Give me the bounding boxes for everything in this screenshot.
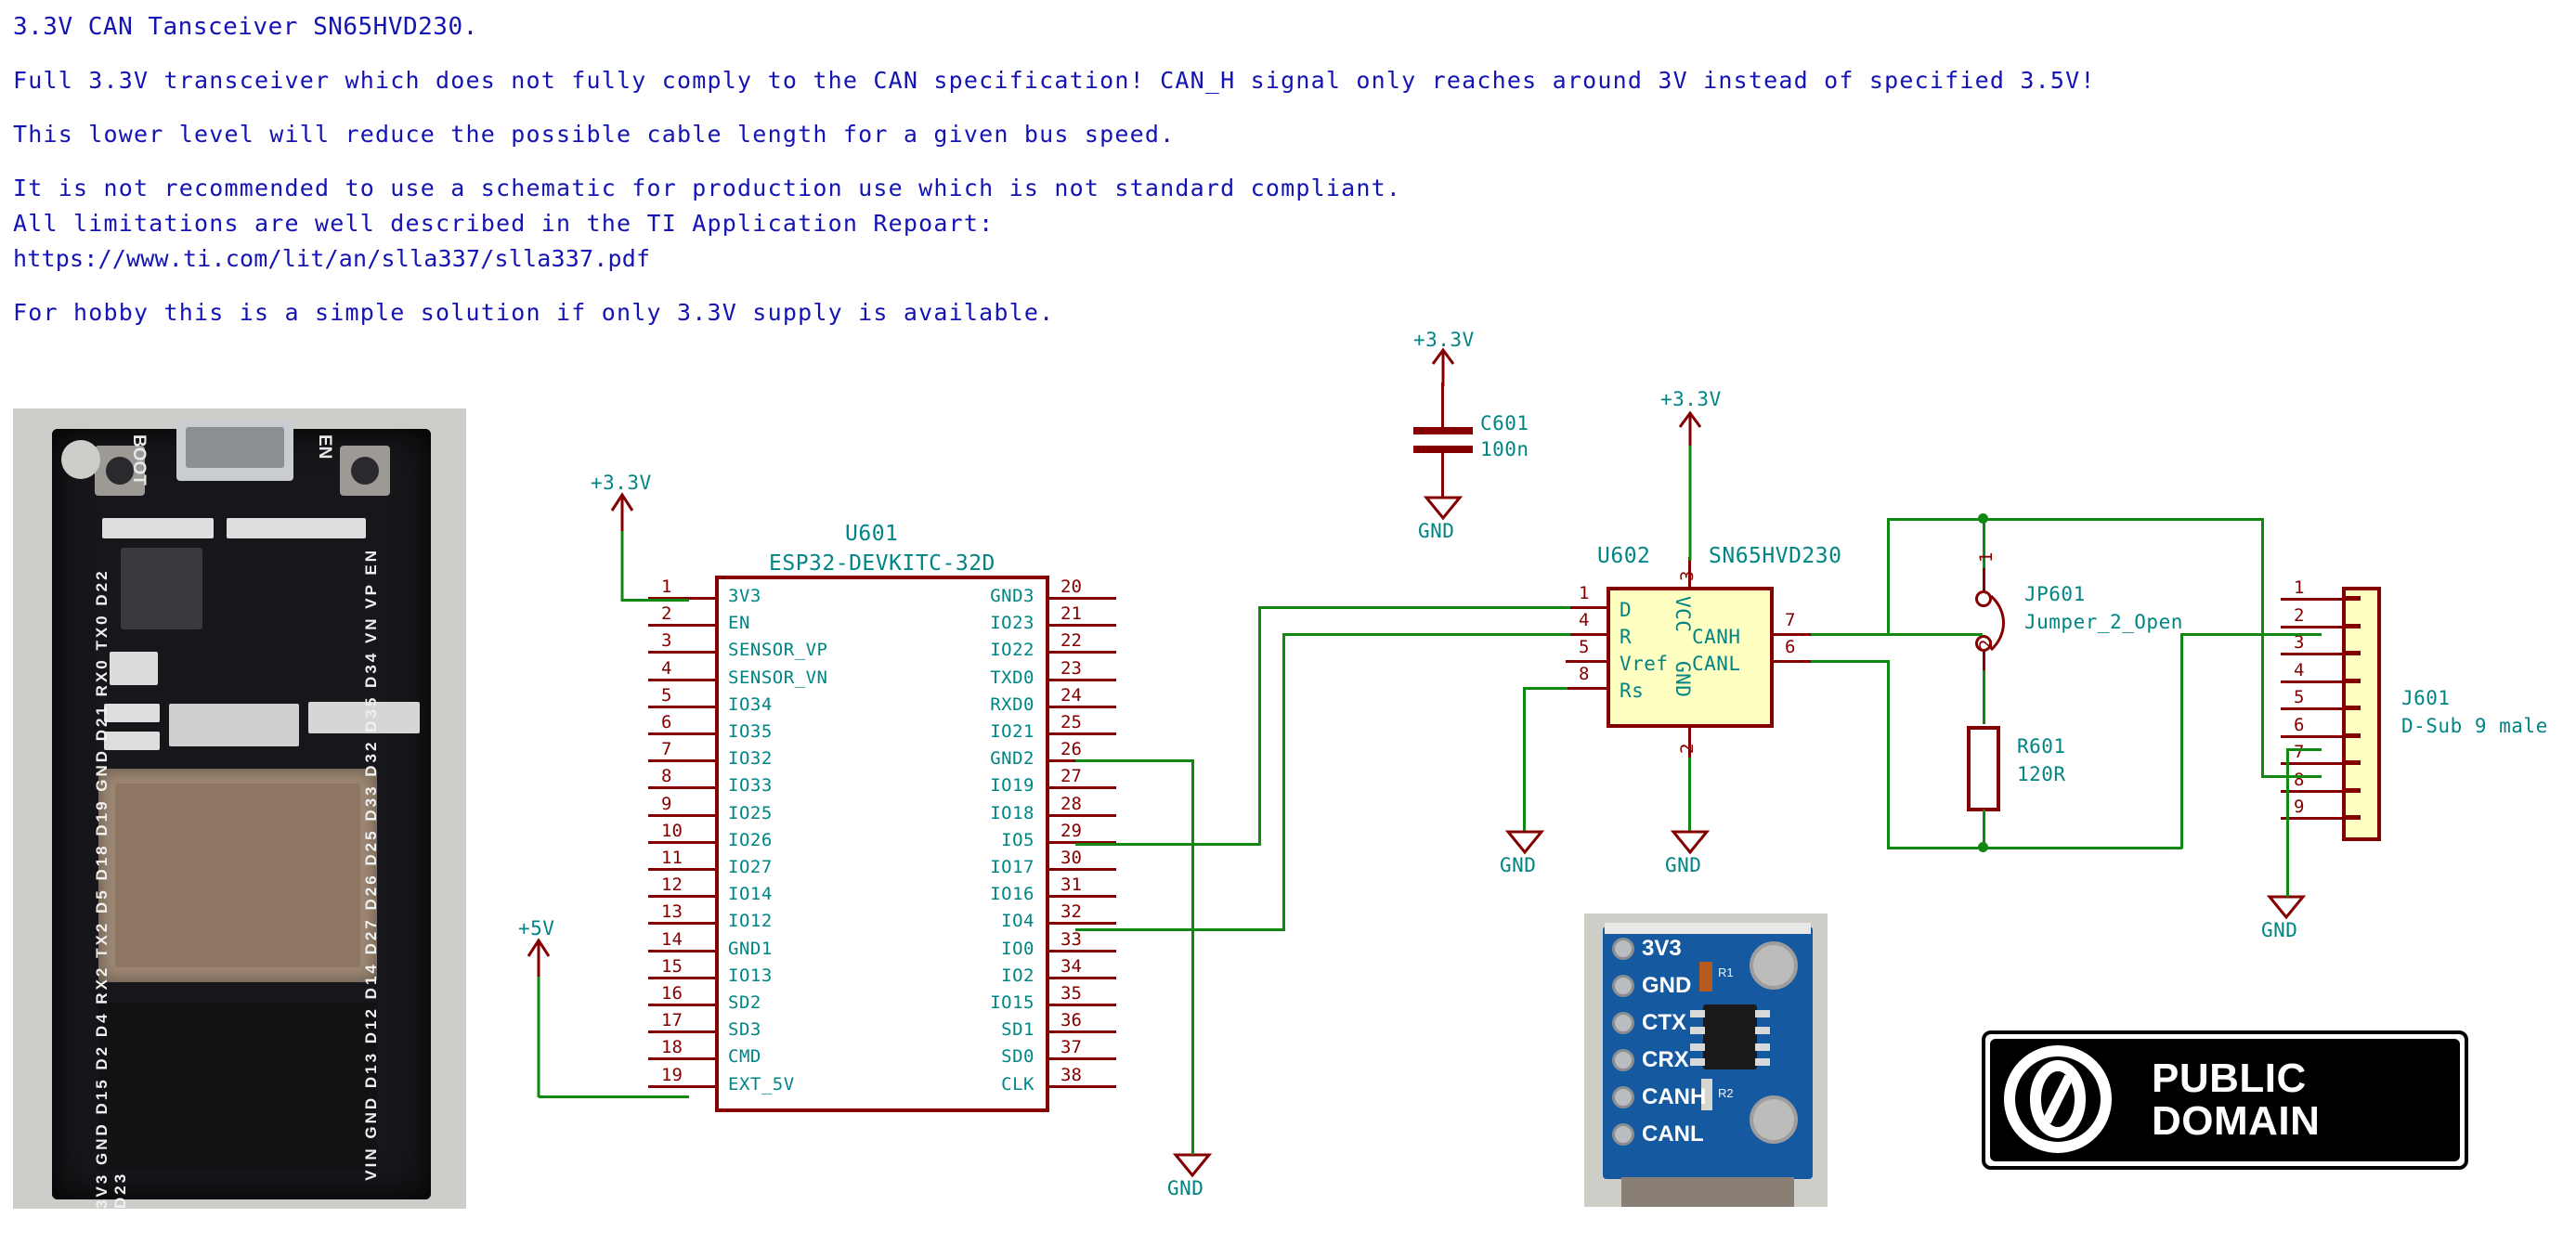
u601-pin-27-line — [1046, 786, 1116, 789]
u601-pin-35-line — [1046, 1004, 1116, 1006]
can-module-silk-canl: CANL — [1642, 1121, 1704, 1147]
can-module-silk-3v3: 3V3 — [1642, 936, 1682, 962]
u601-pin-14-num: 14 — [661, 929, 683, 950]
j601-pin-6-line — [2281, 735, 2346, 738]
u601-pin-2-num: 2 — [661, 603, 671, 624]
u601-pinname-io32: IO32 — [728, 748, 773, 769]
u601-pin-33-num: 33 — [1060, 929, 1082, 950]
u601-pin-11-line — [648, 868, 719, 871]
wire-io4-h1 — [1075, 928, 1285, 931]
u602-pin-5-line — [1566, 660, 1608, 663]
can-transceiver-module-photo: R1 R2 3V3 GND CTX CRX CANH CANL — [1584, 914, 1828, 1207]
c601-value: 100n — [1480, 438, 1529, 460]
u601-pin-31-num: 31 — [1060, 875, 1082, 895]
u601-pin-3-line — [648, 651, 719, 654]
u602-pin-8-line — [1566, 687, 1608, 690]
u601-pinname-io27: IO27 — [728, 857, 773, 877]
wire-rs-h — [1523, 687, 1568, 690]
note-line-5: For hobby this is a simple solution if o… — [13, 295, 2335, 330]
j601-pin-2-stub — [2346, 624, 2361, 628]
u601-pinname-gnd3: GND3 — [990, 586, 1034, 606]
ground-symbol-u602 — [1670, 828, 1711, 856]
u601-pin-32-line — [1046, 922, 1116, 925]
wire-j601-gnd-h — [2286, 748, 2322, 751]
r601-bottom-wire — [1983, 810, 1985, 847]
u601-value: ESP32-DEVKITC-32D — [769, 551, 995, 576]
ground-label-esp: GND — [1167, 1177, 1203, 1199]
can-module-silk-ctx: CTX — [1642, 1010, 1686, 1036]
u601-pinname-gnd1: GND1 — [728, 939, 773, 959]
u602-pinname-r: R — [1620, 626, 1632, 648]
u601-pin-20-line — [1046, 597, 1116, 600]
u601-pinname-io16: IO16 — [990, 884, 1034, 904]
u601-pin-25-line — [1046, 732, 1116, 735]
u601-pinname-io4: IO4 — [1001, 911, 1034, 931]
u601-pin-10-num: 10 — [661, 821, 683, 841]
u601-ref: U601 — [845, 522, 898, 546]
public-domain-mark — [2002, 1043, 2114, 1159]
power-symbol-c601-3v3 — [1425, 345, 1462, 386]
public-domain-line1: PUBLIC — [2152, 1057, 2320, 1100]
wire-gnd2-v — [1191, 759, 1194, 1155]
u601-pin-24-num: 24 — [1060, 685, 1082, 706]
wire-canh-h1 — [1811, 633, 1983, 636]
j601-pin-9-stub — [2346, 815, 2361, 820]
wire-canl-v2 — [2180, 633, 2183, 849]
u601-pin-27-num: 27 — [1060, 766, 1082, 786]
j601-pin-6-num: 6 — [2294, 715, 2304, 735]
power-symbol-esp-5v — [520, 936, 557, 1097]
note-line-2: This lower level will reduce the possibl… — [13, 117, 2335, 152]
u602-value: SN65HVD230 — [1709, 544, 1841, 568]
public-domain-badge: PUBLIC DOMAIN — [1982, 1030, 2468, 1170]
j601-pin-4-num: 4 — [2294, 660, 2304, 680]
u601-pinname-gnd2: GND2 — [990, 748, 1034, 769]
u601-pin-2-line — [648, 624, 719, 627]
u602-pin-5-num: 5 — [1579, 637, 1589, 657]
u601-pinname-rxd0: RXD0 — [990, 694, 1034, 715]
u601-pin-1-num: 1 — [661, 577, 671, 597]
wire-canh-h2 — [2261, 775, 2322, 778]
u601-pinname-clk: CLK — [1001, 1074, 1034, 1095]
u602-pinname-d: D — [1620, 599, 1632, 621]
j601-pin-7-stub — [2346, 760, 2361, 765]
u601-pin-9-line — [648, 814, 719, 817]
u602-pin-4-num: 4 — [1579, 610, 1589, 630]
j601-pin-9-line — [2281, 817, 2346, 820]
u601-pinname-io25: IO25 — [728, 803, 773, 823]
wire-io4-v — [1282, 633, 1285, 931]
u601-pin-28-line — [1046, 814, 1116, 817]
u601-pin-15-line — [648, 977, 719, 979]
u601-pin-7-num: 7 — [661, 739, 671, 759]
u602-pin-4-line — [1566, 633, 1608, 636]
jp601-top-wire — [1983, 518, 1985, 576]
u601-pin-29-num: 29 — [1060, 821, 1082, 841]
power-symbol-esp-3v3 — [604, 490, 641, 602]
u601-pin-23-num: 23 — [1060, 658, 1082, 679]
wire-canl-h2 — [2180, 633, 2322, 636]
u601-pinname-en: EN — [728, 613, 750, 633]
j601-pin-8-stub — [2346, 788, 2361, 793]
u602-pin-2-num: 2 — [1677, 744, 1698, 754]
u602-pin-8-num: 8 — [1579, 664, 1589, 684]
j601-pin-2-line — [2281, 626, 2346, 628]
wire-3v3-to-u601 — [622, 599, 689, 602]
u602-pin-7-num: 7 — [1785, 610, 1795, 630]
u601-pinname-io17: IO17 — [990, 857, 1034, 877]
power-label-esp-5v: +5V — [518, 917, 554, 939]
c601-plate-top — [1413, 427, 1473, 434]
u601-pin-20-num: 20 — [1060, 577, 1082, 597]
u601-pin-18-num: 18 — [661, 1037, 683, 1057]
u601-pin-33-line — [1046, 950, 1116, 952]
ground-label-rs: GND — [1500, 854, 1536, 876]
u601-pin-38-num: 38 — [1060, 1065, 1082, 1085]
j601-pin-3-stub — [2346, 651, 2361, 655]
u601-pin-12-line — [648, 895, 719, 898]
u601-pinname-txd0: TXD0 — [990, 667, 1034, 688]
u601-pin-36-line — [1046, 1030, 1116, 1033]
u601-pinname-io35: IO35 — [728, 721, 773, 742]
jp601-value: Jumper_2_Open — [2024, 611, 2183, 633]
u601-pin-35-num: 35 — [1060, 983, 1082, 1004]
can-module-silk-crx: CRX — [1642, 1047, 1689, 1073]
u601-pinname-ext_5v: EXT_5V — [728, 1074, 795, 1095]
j601-ref: J601 — [2401, 687, 2451, 709]
j601-pin-5-line — [2281, 707, 2346, 710]
u601-pin-36-num: 36 — [1060, 1010, 1082, 1030]
j601-pin-7-line — [2281, 762, 2346, 765]
power-label-c601-3v3: +3.3V — [1413, 329, 1475, 351]
j601-pin-5-num: 5 — [2294, 687, 2304, 707]
u601-pin-4-num: 4 — [661, 658, 671, 679]
u601-pinname-sd2: SD2 — [728, 992, 761, 1013]
jp601-pin-2-num: 2 — [1976, 640, 1997, 650]
u601-pin-22-num: 22 — [1060, 630, 1082, 651]
u601-pinname-io34: IO34 — [728, 694, 773, 715]
power-label-esp-3v3: +3.3V — [591, 472, 652, 494]
u601-pin-16-line — [648, 1004, 719, 1006]
u601-pinname-io13: IO13 — [728, 965, 773, 986]
u601-pinname-io33: IO33 — [728, 775, 773, 796]
wire-canl-bottom — [1887, 847, 2182, 849]
u601-pin-21-num: 21 — [1060, 603, 1082, 624]
schematic-notes: 3.3V CAN Tansceiver SN65HVD230. Full 3.3… — [13, 9, 2335, 330]
u601-pinname-io23: IO23 — [990, 613, 1034, 633]
jp601-pin-1-num: 1 — [1976, 552, 1997, 563]
u601-pin-19-num: 19 — [661, 1065, 683, 1085]
u601-pinname-sd1: SD1 — [1001, 1019, 1034, 1040]
u601-pin-22-line — [1046, 651, 1116, 654]
u601-pinname-io21: IO21 — [990, 721, 1034, 742]
u601-pin-6-line — [648, 732, 719, 735]
can-module-silk-gnd: GND — [1642, 973, 1691, 999]
u601-pinname-sd0: SD0 — [1001, 1046, 1034, 1067]
c601-top-lead — [1441, 382, 1444, 429]
u601-pinname-cmd: CMD — [728, 1046, 761, 1067]
notes-title: 3.3V CAN Tansceiver SN65HVD230. — [13, 9, 2335, 45]
u601-pinname-io15: IO15 — [990, 992, 1034, 1013]
wire-u602-gnd — [1688, 758, 1691, 832]
u602-pin-1-line — [1566, 606, 1608, 609]
jp601-ref: JP601 — [2024, 583, 2086, 605]
u601-pinname-sd3: SD3 — [728, 1019, 761, 1040]
wire-io4-h2 — [1282, 633, 1570, 636]
u601-pin-23-line — [1046, 679, 1116, 681]
u601-pinname-io0: IO0 — [1001, 939, 1034, 959]
j601-pin-1-line — [2281, 598, 2346, 601]
u601-pin-4-line — [648, 679, 719, 681]
note-line-3: It is not recommended to use a schematic… — [13, 171, 2335, 206]
u602-pinname-gnd: GND — [1672, 661, 1694, 697]
j601-pin-4-stub — [2346, 679, 2361, 683]
j601-pin-8-num: 8 — [2294, 770, 2304, 790]
u601-pin-13-line — [648, 922, 719, 925]
ground-symbol-c601 — [1423, 494, 1464, 522]
u601-pin-11-num: 11 — [661, 848, 683, 868]
u601-pinname-io18: IO18 — [990, 803, 1034, 823]
u601-pinname-io14: IO14 — [728, 884, 773, 904]
u601-pinname-3v3: 3V3 — [728, 586, 761, 606]
j601-pin-4-line — [2281, 680, 2346, 683]
j601-pin-3-line — [2281, 653, 2346, 655]
u601-pin-6-num: 6 — [661, 712, 671, 732]
ground-symbol-rs — [1504, 828, 1545, 856]
u602-pinname-canl: CANL — [1692, 653, 1741, 675]
j601-pin-1-num: 1 — [2294, 577, 2304, 598]
j601-pin-2-num: 2 — [2294, 605, 2304, 626]
r601-ref: R601 — [2017, 735, 2066, 758]
u601-pin-26-num: 26 — [1060, 739, 1082, 759]
jp601-bottom-wire — [1983, 670, 1985, 724]
u602-pinname-canh: CANH — [1692, 626, 1741, 648]
u601-pin-37-line — [1046, 1057, 1116, 1060]
note-line-4: All limitations are well described in th… — [13, 206, 2335, 241]
u601-pinname-io19: IO19 — [990, 775, 1034, 796]
u601-pinname-io5: IO5 — [1001, 830, 1034, 850]
u601-pin-18-line — [648, 1057, 719, 1060]
u602-pinname-rs: Rs — [1620, 680, 1644, 702]
u602-pinname-vref: Vref — [1620, 653, 1669, 675]
r601-body — [1967, 726, 2000, 811]
u601-pin-31-line — [1046, 895, 1116, 898]
u602-pin-6-num: 6 — [1785, 637, 1795, 657]
u602-pin-3-num: 3 — [1677, 571, 1698, 581]
u601-pin-24-line — [1046, 706, 1116, 708]
u601-pin-8-num: 8 — [661, 766, 671, 786]
wire-5v-to-u601 — [539, 1095, 689, 1098]
u601-pin-9-num: 9 — [661, 794, 671, 814]
u601-pin-30-line — [1046, 868, 1116, 871]
wire-io5-h1 — [1075, 843, 1261, 846]
u601-pin-19-line — [648, 1085, 719, 1088]
u601-pin-17-line — [648, 1030, 719, 1033]
wire-j601-gnd-v — [2286, 748, 2289, 897]
u601-pin-5-num: 5 — [661, 685, 671, 706]
u601-pin-17-num: 17 — [661, 1010, 683, 1030]
note-url[interactable]: https://www.ti.com/lit/an/slla337/slla33… — [13, 241, 2335, 277]
u601-pin-30-num: 30 — [1060, 848, 1082, 868]
u601-pin-28-num: 28 — [1060, 794, 1082, 814]
u601-pinname-sensor_vp: SENSOR_VP — [728, 640, 827, 660]
wire-rs-v — [1523, 687, 1526, 832]
u601-pin-14-line — [648, 950, 719, 952]
u601-pinname-io2: IO2 — [1001, 965, 1034, 986]
ground-label-c601: GND — [1418, 520, 1454, 542]
u602-pin-1-num: 1 — [1579, 583, 1589, 603]
u602-pin-6-line — [1772, 660, 1815, 663]
j601-pin-6-stub — [2346, 733, 2361, 738]
esp32-devkit-photo: BOOT EN 3V3 GND D15 D2 D4 RX2 TX2 D5 D18… — [13, 408, 466, 1209]
wire-gnd2-h — [1075, 759, 1194, 762]
j601-pin-9-num: 9 — [2294, 797, 2304, 817]
u601-pin-15-num: 15 — [661, 956, 683, 977]
u601-pin-21-line — [1046, 624, 1116, 627]
wire-canl-v1 — [1887, 660, 1890, 849]
u601-pin-10-line — [648, 841, 719, 844]
u601-pinname-io22: IO22 — [990, 640, 1034, 660]
u601-pin-12-num: 12 — [661, 875, 683, 895]
u602-ref: U602 — [1597, 544, 1650, 568]
c601-bottom-lead — [1441, 451, 1444, 498]
ground-symbol-esp — [1172, 1151, 1213, 1179]
u601-pin-37-num: 37 — [1060, 1037, 1082, 1057]
u601-pinname-io26: IO26 — [728, 830, 773, 850]
can-module-silk-canh: CANH — [1642, 1084, 1706, 1110]
u602-pinname-vcc: VCC — [1672, 596, 1694, 632]
u602-pin-7-line — [1772, 633, 1815, 636]
ground-label-u602: GND — [1665, 854, 1701, 876]
wire-canl-h1 — [1811, 660, 1890, 663]
note-line-1: Full 3.3V transceiver which does not ful… — [13, 63, 2335, 98]
wire-io5-v — [1258, 606, 1261, 846]
ground-symbol-j601 — [2266, 893, 2307, 921]
wire-io5-h2 — [1258, 606, 1570, 609]
r601-value: 120R — [2017, 763, 2066, 785]
j601-pin-8-line — [2281, 790, 2346, 793]
u601-pinname-io12: IO12 — [728, 911, 773, 931]
public-domain-line2: DOMAIN — [2152, 1100, 2320, 1143]
junction-canh — [1978, 513, 1988, 524]
u601-pin-25-num: 25 — [1060, 712, 1082, 732]
u601-pin-34-num: 34 — [1060, 956, 1082, 977]
u601-pin-38-line — [1046, 1085, 1116, 1088]
u601-pin-34-line — [1046, 977, 1116, 979]
wire-canh-v2 — [2261, 518, 2264, 778]
j601-pin-5-stub — [2346, 706, 2361, 710]
power-label-u602-3v3: +3.3V — [1660, 388, 1722, 410]
wire-canh-top — [1887, 518, 2264, 521]
j601-pin-7-num: 7 — [2294, 742, 2304, 762]
junction-canl — [1978, 842, 1988, 852]
u601-pin-3-num: 3 — [661, 630, 671, 651]
u601-pin-13-num: 13 — [661, 901, 683, 922]
jp601-pin1-lead — [1983, 568, 1985, 592]
u601-pin-7-line — [648, 759, 719, 762]
wire-canh-v1 — [1887, 518, 1890, 636]
power-symbol-u602-3v3 — [1672, 408, 1709, 561]
j601-pin-1-stub — [2346, 596, 2361, 601]
u601-pin-5-line — [648, 706, 719, 708]
u601-pin-8-line — [648, 786, 719, 789]
ground-label-j601: GND — [2261, 919, 2297, 941]
u601-pin-32-num: 32 — [1060, 901, 1082, 922]
u601-pin-16-num: 16 — [661, 983, 683, 1004]
j601-value: D-Sub 9 male — [2401, 715, 2548, 737]
u601-pinname-sensor_vn: SENSOR_VN — [728, 667, 827, 688]
c601-ref: C601 — [1480, 412, 1529, 434]
